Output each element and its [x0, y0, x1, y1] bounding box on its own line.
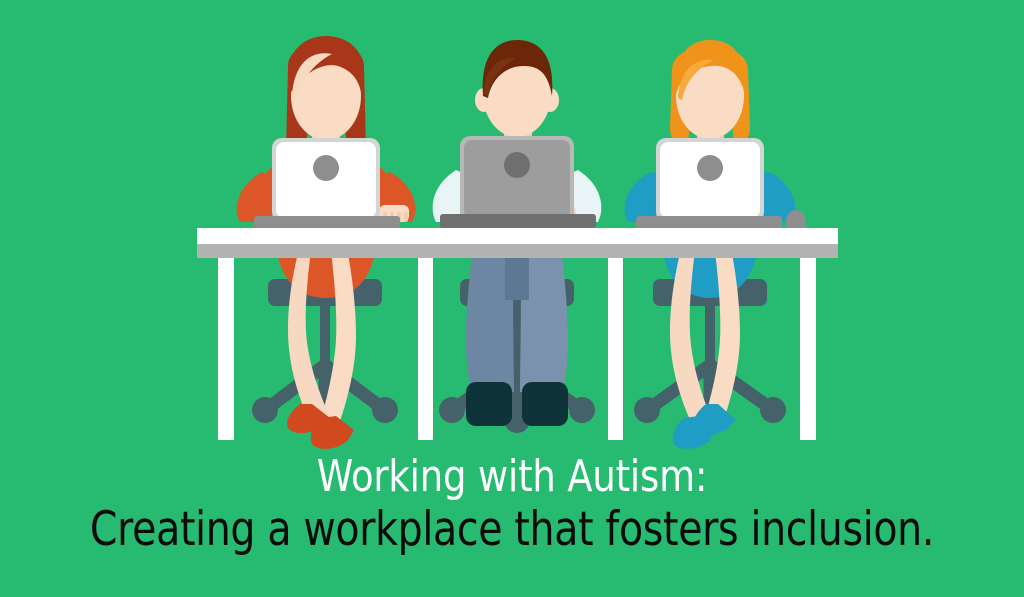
illustration-scene — [0, 0, 1024, 460]
caption-line-2: Creating a workplace that fosters inclus… — [82, 506, 942, 554]
monitor-center[interactable] — [460, 136, 574, 226]
monitor-logo-icon — [504, 152, 530, 178]
monitor-left[interactable] — [272, 138, 380, 226]
desk-leg-2 — [418, 258, 433, 440]
chair-center — [439, 279, 595, 433]
keyboard-right[interactable] — [636, 216, 782, 228]
coworkers-illustration — [0, 0, 1024, 460]
monitor-right[interactable] — [656, 138, 764, 226]
desk-leg-3 — [608, 258, 623, 440]
monitor-logo-icon — [313, 155, 339, 181]
desk-leg-4 — [800, 258, 816, 440]
monitor-logo-icon — [697, 155, 723, 181]
keyboard-center[interactable] — [440, 214, 596, 228]
caption-block: Working with Autism: Creating a workplac… — [0, 455, 1024, 554]
keyboard-left[interactable] — [254, 216, 400, 228]
caption-line-1: Working with Autism: — [82, 455, 942, 500]
poster-canvas: Working with Autism: Creating a workplac… — [0, 0, 1024, 597]
desk-leg-1 — [218, 258, 234, 440]
